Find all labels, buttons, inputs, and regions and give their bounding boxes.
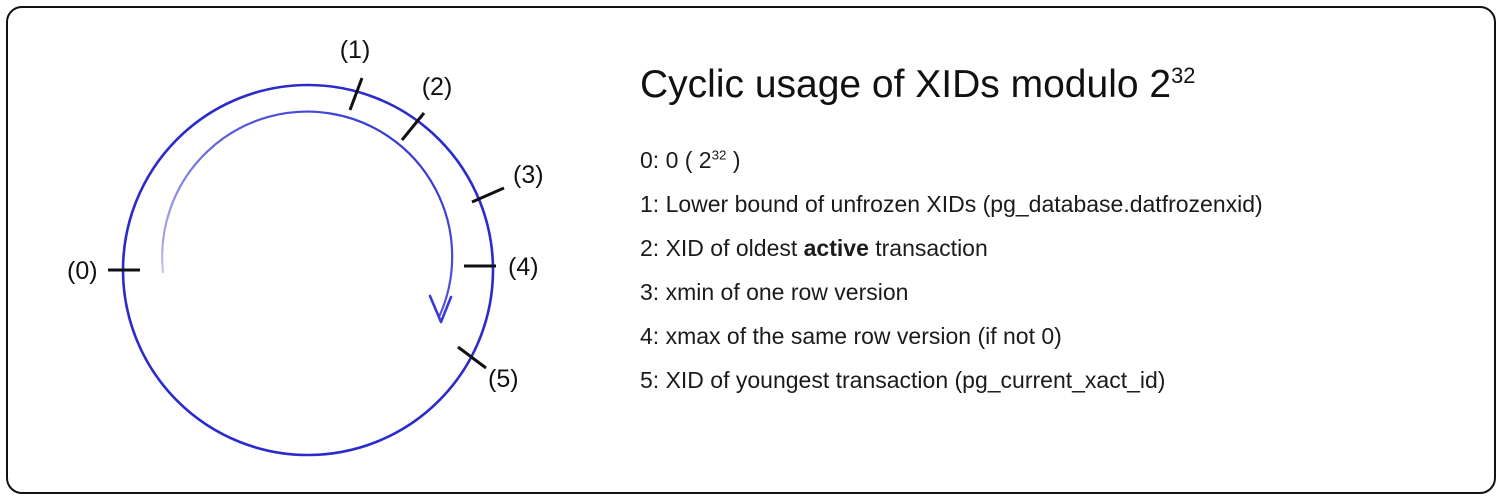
page-title-exponent: 32 bbox=[1171, 63, 1195, 88]
ring-label-0: (0) bbox=[67, 257, 98, 285]
text-column: Cyclic usage of XIDs modulo 232 0: 0 ( 2… bbox=[640, 64, 1460, 413]
legend-item-0-suffix: ) bbox=[726, 147, 740, 173]
page-title-text: Cyclic usage of XIDs modulo 2 bbox=[640, 63, 1171, 106]
legend-item-2: 2: XID of oldest active transaction bbox=[640, 237, 1460, 281]
legend-item-4-prefix: 4: xmax of the same row version (if not … bbox=[640, 323, 1062, 349]
ring-label-2: (2) bbox=[422, 73, 453, 101]
xid-cycle-diagram: (0) (1) (2) (3) (4) (5) bbox=[40, 20, 600, 482]
legend-item-4: 4: xmax of the same row version (if not … bbox=[640, 325, 1460, 369]
tick-1 bbox=[350, 78, 362, 110]
legend-item-0: 0: 0 ( 232 ) bbox=[640, 149, 1460, 193]
direction-arrow-head bbox=[430, 296, 451, 322]
legend-item-5-prefix: 5: XID of youngest transaction (pg_curre… bbox=[640, 367, 1165, 393]
legend-list: 0: 0 ( 232 ) 1: Lower bound of unfrozen … bbox=[640, 149, 1460, 413]
legend-item-5: 5: XID of youngest transaction (pg_curre… bbox=[640, 369, 1460, 413]
legend-item-1-prefix: 1: Lower bound of unfrozen XIDs (pg_data… bbox=[640, 191, 1263, 217]
screenshot-canvas: (0) (1) (2) (3) (4) (5) Cyclic usage of … bbox=[0, 0, 1504, 502]
legend-item-2-emphasis: active bbox=[804, 235, 869, 261]
ring-label-4: (4) bbox=[508, 253, 539, 281]
legend-item-2-prefix: 2: XID of oldest bbox=[640, 235, 804, 261]
legend-item-1: 1: Lower bound of unfrozen XIDs (pg_data… bbox=[640, 193, 1460, 237]
legend-item-3-prefix: 3: xmin of one row version bbox=[640, 279, 908, 305]
legend-item-0-exponent: 32 bbox=[712, 147, 727, 162]
page-title: Cyclic usage of XIDs modulo 232 bbox=[640, 64, 1460, 107]
xid-cycle-ring bbox=[123, 85, 493, 455]
direction-arc bbox=[162, 112, 452, 317]
ring-label-5: (5) bbox=[488, 365, 519, 393]
legend-item-3: 3: xmin of one row version bbox=[640, 281, 1460, 325]
legend-item-0-prefix: 0: 0 ( 2 bbox=[640, 147, 712, 173]
ring-label-1: (1) bbox=[340, 36, 371, 64]
legend-item-2-suffix: transaction bbox=[869, 235, 988, 261]
ring-label-3: (3) bbox=[513, 161, 544, 189]
tick-5 bbox=[458, 347, 486, 368]
